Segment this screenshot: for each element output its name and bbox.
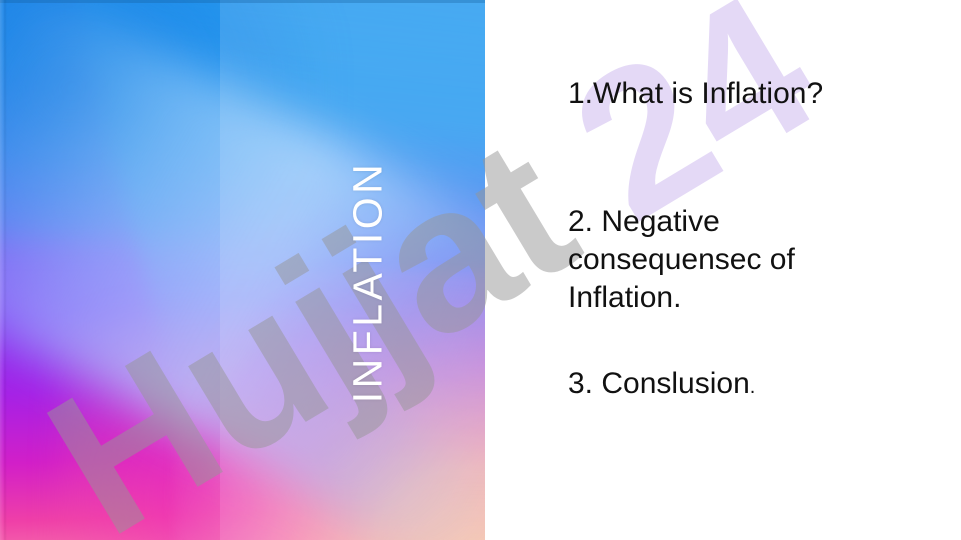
slide-content-area: 1.What is Inflation? 2. Negative consequ… (485, 0, 961, 540)
panel-left-edge-strip (0, 0, 7, 540)
panel-lighten-overlay (220, 0, 485, 540)
agenda-item-3-text: 3. Conslusion (568, 367, 750, 400)
gradient-cover-image (0, 0, 485, 540)
panel-top-rule (0, 0, 485, 3)
agenda-item-1: 1.What is Inflation? (568, 75, 948, 113)
presentation-slide: Hujjat 24 INFLATION 1.What is Inflation?… (0, 0, 961, 540)
agenda-item-3-period: . (750, 376, 756, 398)
agenda-item-2: 2. Negative consequensec of Inflation. (568, 203, 868, 317)
agenda-item-3: 3. Conslusion. (568, 365, 928, 406)
